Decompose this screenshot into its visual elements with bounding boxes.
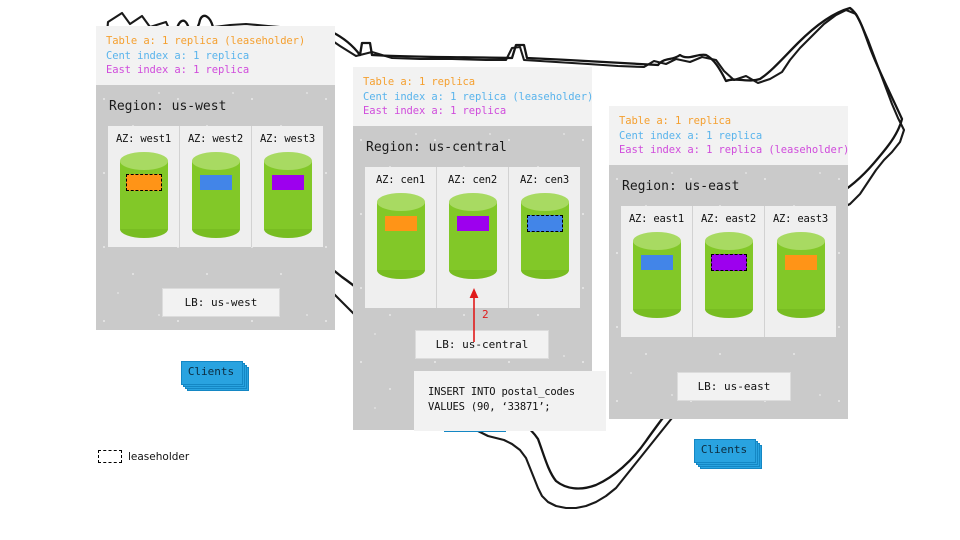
az-strip-us-east: AZ: east1 AZ: east2 xyxy=(621,206,836,337)
replica-chip-cent-index xyxy=(200,175,232,190)
replica-legend-us-central: Table a: 1 replica Cent index a: 1 repli… xyxy=(353,67,592,126)
region-title: Region: us-west xyxy=(96,85,335,126)
replica-chip-table xyxy=(385,216,417,231)
node-cylinder-west1[interactable] xyxy=(120,152,168,238)
legend-line-table: Table a: 1 replica (leaseholder) xyxy=(106,34,325,49)
region-card-us-east: Table a: 1 replica Cent index a: 1 repli… xyxy=(609,106,848,419)
node-cylinder-cen3[interactable] xyxy=(521,193,569,279)
request-arrow-icon xyxy=(464,286,484,342)
cylinder-body xyxy=(705,241,753,309)
region-title: Region: us-central xyxy=(353,126,592,167)
az-cell-east1[interactable]: AZ: east1 xyxy=(621,206,692,337)
az-cell-cen1[interactable]: AZ: cen1 xyxy=(365,167,436,308)
az-label: AZ: cen2 xyxy=(437,174,508,186)
az-label: AZ: east1 xyxy=(621,213,692,225)
node-cylinder-west2[interactable] xyxy=(192,152,240,238)
replica-chip-table xyxy=(785,255,817,270)
region-card-us-west: Table a: 1 replica (leaseholder) Cent in… xyxy=(96,26,335,330)
clients-label: Clients xyxy=(694,439,754,461)
cylinder-body xyxy=(449,202,497,270)
cylinder-top xyxy=(705,232,753,250)
az-label: AZ: west3 xyxy=(252,133,323,145)
cylinder-top xyxy=(521,193,569,211)
cylinder-top xyxy=(449,193,497,211)
legend-line-table: Table a: 1 replica xyxy=(363,75,582,90)
az-label: AZ: east3 xyxy=(765,213,836,225)
arrow-step-number: 2 xyxy=(482,308,489,321)
load-balancer-us-east[interactable]: LB: us-east xyxy=(677,372,791,401)
leaseholder-legend-label: leaseholder xyxy=(128,451,189,463)
node-cylinder-east3[interactable] xyxy=(777,232,825,318)
az-cell-cen3[interactable]: AZ: cen3 xyxy=(508,167,580,308)
clients-us-east[interactable]: Clients xyxy=(694,439,760,465)
cylinder-body xyxy=(192,161,240,229)
az-label: AZ: west2 xyxy=(180,133,251,145)
replica-chip-east-index-leaseholder xyxy=(711,254,747,271)
load-balancer-us-west[interactable]: LB: us-west xyxy=(162,288,280,317)
replica-legend-us-west: Table a: 1 replica (leaseholder) Cent in… xyxy=(96,26,335,85)
az-label: AZ: cen1 xyxy=(365,174,436,186)
node-cylinder-east1[interactable] xyxy=(633,232,681,318)
az-cell-east3[interactable]: AZ: east3 xyxy=(764,206,836,337)
cylinder-body xyxy=(264,161,312,229)
cylinder-body xyxy=(777,241,825,309)
az-cell-west2[interactable]: AZ: west2 xyxy=(179,126,251,247)
az-cell-east2[interactable]: AZ: east2 xyxy=(692,206,764,337)
replica-legend-us-east: Table a: 1 replica Cent index a: 1 repli… xyxy=(609,106,848,165)
node-cylinder-west3[interactable] xyxy=(264,152,312,238)
cylinder-body xyxy=(377,202,425,270)
clients-stack[interactable]: Clients xyxy=(181,361,247,387)
replica-chip-cent-index xyxy=(641,255,673,270)
cylinder-body xyxy=(120,161,168,229)
legend-line-cent-index: Cent index a: 1 replica xyxy=(619,129,838,144)
region-title: Region: us-east xyxy=(609,165,848,206)
legend-line-east-index: East index a: 1 replica xyxy=(106,63,325,78)
diagram-canvas: Table a: 1 replica (leaseholder) Cent in… xyxy=(0,0,960,540)
clients-us-west[interactable]: Clients xyxy=(181,361,247,387)
cylinder-body xyxy=(521,202,569,270)
dashed-rect-icon xyxy=(98,450,122,463)
az-label: AZ: east2 xyxy=(693,213,764,225)
replica-chip-east-index xyxy=(457,216,489,231)
node-cylinder-east2[interactable] xyxy=(705,232,753,318)
az-label: AZ: west1 xyxy=(108,133,179,145)
cylinder-top xyxy=(377,193,425,211)
legend-line-cent-index: Cent index a: 1 replica (leaseholder) xyxy=(363,90,582,105)
replica-chip-east-index xyxy=(272,175,304,190)
cylinder-top xyxy=(192,152,240,170)
clients-stack[interactable]: Clients xyxy=(694,439,760,465)
cylinder-top xyxy=(120,152,168,170)
az-cell-west3[interactable]: AZ: west3 xyxy=(251,126,323,247)
legend-line-cent-index: Cent index a: 1 replica xyxy=(106,49,325,64)
legend-line-table: Table a: 1 replica xyxy=(619,114,838,129)
legend-line-east-index: East index a: 1 replica xyxy=(363,104,582,119)
leaseholder-legend-key: leaseholder xyxy=(98,450,189,463)
clients-label: Clients xyxy=(181,361,241,383)
az-strip-us-west: AZ: west1 AZ: west2 xyxy=(108,126,323,247)
region-body-us-east: Region: us-east AZ: east1 AZ: east2 xyxy=(609,165,848,419)
az-label: AZ: cen3 xyxy=(509,174,580,186)
az-cell-west1[interactable]: AZ: west1 xyxy=(108,126,179,247)
replica-chip-cent-index-leaseholder xyxy=(527,215,563,232)
cylinder-body xyxy=(633,241,681,309)
sql-statement: INSERT INTO postal_codes VALUES (90, ‘33… xyxy=(414,371,606,431)
region-body-us-west: Region: us-west AZ: west1 AZ: west2 xyxy=(96,85,335,330)
cylinder-top xyxy=(633,232,681,250)
replica-chip-table-leaseholder xyxy=(126,174,162,191)
cylinder-top xyxy=(264,152,312,170)
node-cylinder-cen2[interactable] xyxy=(449,193,497,279)
cylinder-top xyxy=(777,232,825,250)
legend-line-east-index: East index a: 1 replica (leaseholder) xyxy=(619,143,838,158)
node-cylinder-cen1[interactable] xyxy=(377,193,425,279)
